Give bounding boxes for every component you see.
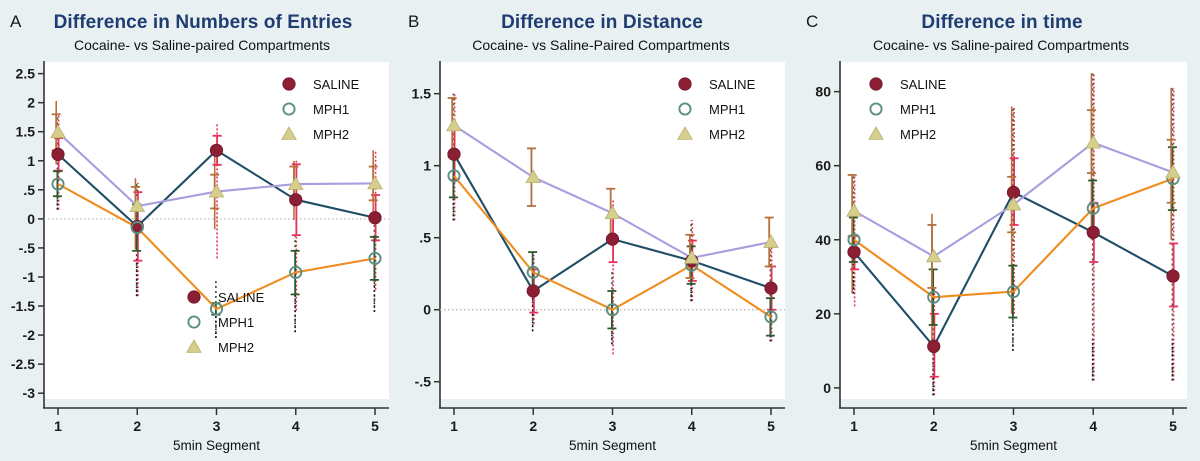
- marker-saline: [848, 246, 860, 258]
- figure-container: ADifference in Numbers of EntriesCocaine…: [0, 0, 1200, 461]
- panel-title: Difference in time: [816, 12, 1188, 34]
- x-tick-label: 1: [54, 418, 62, 434]
- y-tick-label: 2: [27, 95, 35, 111]
- y-tick-label: 0: [823, 380, 831, 396]
- y-tick-label: 20: [815, 306, 831, 322]
- legend-label-saline: SALINE: [218, 290, 265, 305]
- marker-saline: [1167, 270, 1179, 282]
- x-tick-label: 2: [529, 418, 537, 434]
- legend-label-mph2: MPH2: [313, 127, 349, 142]
- x-tick-label: 1: [850, 418, 858, 434]
- marker-saline: [1007, 186, 1019, 198]
- y-tick-label: -2.5: [11, 356, 35, 372]
- y-tick-label: 0: [27, 211, 35, 227]
- marker-saline: [448, 148, 460, 160]
- legend-label-mph1: MPH1: [218, 315, 254, 330]
- legend-label-mph2: MPH2: [218, 340, 254, 355]
- y-tick-label: 60: [815, 158, 831, 174]
- panel-subtitle: Cocaine- vs Saline-paired Compartments: [812, 37, 1190, 53]
- legend-marker-saline: [679, 78, 691, 90]
- x-axis-label: 5min Segment: [173, 438, 260, 453]
- x-axis-label: 5min Segment: [970, 438, 1057, 453]
- y-tick-label: -2: [23, 327, 36, 343]
- y-tick-label: 1: [27, 153, 35, 169]
- x-tick-label: 2: [133, 418, 141, 434]
- y-tick-label: -1.5: [11, 298, 35, 314]
- legend-label-mph1: MPH1: [313, 102, 349, 117]
- legend-label-mph2: MPH2: [900, 127, 936, 142]
- x-tick-label: 3: [1010, 418, 1018, 434]
- x-tick-label: 5: [371, 418, 379, 434]
- y-tick-label: .5: [23, 182, 35, 198]
- marker-saline: [928, 340, 940, 352]
- panel-title: Difference in Numbers of Entries: [18, 12, 388, 34]
- x-tick-label: 5: [1169, 418, 1177, 434]
- panel-plot-a: 2.521.51.50-.5-1-1.5-2-2.5-3123455min Se…: [0, 0, 400, 461]
- x-tick-label: 4: [292, 418, 300, 434]
- legend-label-mph2: MPH2: [709, 127, 745, 142]
- y-tick-label: 0: [423, 302, 431, 318]
- legend-label-saline: SALINE: [900, 77, 947, 92]
- y-tick-label: 1.5: [412, 86, 432, 102]
- legend-marker-saline: [870, 78, 882, 90]
- y-tick-label: -.5: [415, 374, 432, 390]
- panel-subtitle: Cocaine- vs Saline-Paired Compartments: [414, 37, 788, 53]
- legend-marker-saline: [283, 78, 295, 90]
- x-tick-label: 5: [767, 418, 775, 434]
- panel-plot-b: 1.51.50-.5123455min SegmentSALINEMPH1MPH…: [400, 0, 798, 461]
- y-tick-label: 2.5: [16, 66, 36, 82]
- marker-saline: [290, 194, 302, 206]
- panel-a: ADifference in Numbers of EntriesCocaine…: [0, 0, 400, 461]
- panel-b: BDifference in DistanceCocaine- vs Salin…: [400, 0, 798, 461]
- y-tick-label: -.5: [19, 240, 36, 256]
- marker-saline: [765, 282, 777, 294]
- legend-label-mph1: MPH1: [709, 102, 745, 117]
- marker-saline: [369, 212, 381, 224]
- y-tick-label: -3: [23, 385, 36, 401]
- y-tick-label: 80: [815, 84, 831, 100]
- marker-saline: [52, 148, 64, 160]
- legend-marker-saline: [188, 291, 200, 303]
- panel-plot-c: 806040200123455min SegmentSALINEMPH1MPH2: [798, 0, 1200, 461]
- x-tick-label: 4: [1089, 418, 1097, 434]
- y-tick-label: 40: [815, 232, 831, 248]
- x-tick-label: 4: [688, 418, 696, 434]
- marker-saline: [527, 285, 539, 297]
- y-tick-label: -1: [23, 269, 36, 285]
- panel-c: CDifference in timeCocaine- vs Saline-pa…: [798, 0, 1200, 461]
- x-tick-label: 2: [930, 418, 938, 434]
- marker-saline: [606, 233, 618, 245]
- x-axis-label: 5min Segment: [569, 438, 656, 453]
- x-tick-label: 3: [609, 418, 617, 434]
- y-tick-label: 1: [423, 158, 431, 174]
- x-tick-label: 1: [450, 418, 458, 434]
- legend-label-saline: SALINE: [709, 77, 756, 92]
- legend-label-mph1: MPH1: [900, 102, 936, 117]
- panel-subtitle: Cocaine- vs Saline-paired Compartments: [14, 37, 390, 53]
- y-tick-label: .5: [419, 230, 431, 246]
- panel-title: Difference in Distance: [418, 12, 786, 34]
- x-tick-label: 3: [213, 418, 221, 434]
- y-tick-label: 1.5: [16, 124, 36, 140]
- legend-label-saline: SALINE: [313, 77, 360, 92]
- marker-saline: [1087, 226, 1099, 238]
- marker-saline: [210, 144, 222, 156]
